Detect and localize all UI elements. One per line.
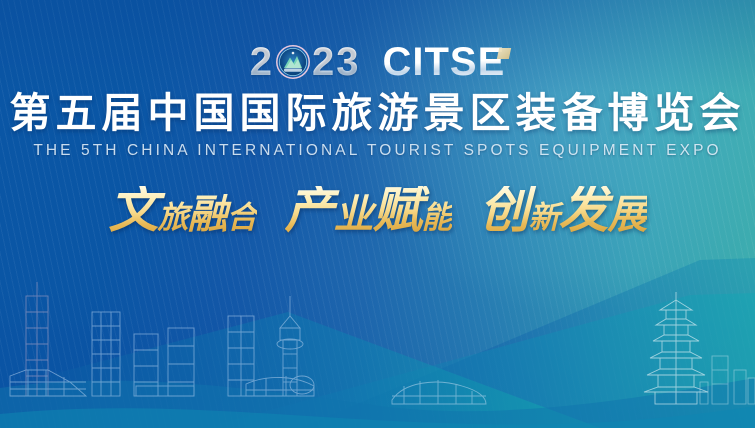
acronym-text: CITSE <box>382 40 505 84</box>
slogan-char: 文 <box>109 186 158 234</box>
year-suffix: 23 <box>312 42 361 82</box>
city-skyline-wireframe <box>0 278 755 428</box>
slogan-char: 产 <box>285 186 334 234</box>
slogan-chuangxin-fazhan: 创 新 发 展 <box>480 186 647 234</box>
chinese-title: 第五届中国国际旅游景区装备博览会 <box>0 92 755 135</box>
pagoda-tower <box>644 292 708 404</box>
english-title: THE 5TH CHINA INTERNATIONAL TOURIST SPOT… <box>0 142 755 160</box>
slogan-chanye-funeng: 产 业 赋 能 <box>285 186 452 234</box>
banner-header: 2 <box>0 0 755 160</box>
slogan-char: 融 <box>188 196 227 234</box>
year-prefix: 2 <box>250 42 274 82</box>
slogan-char: 旅 <box>158 204 188 234</box>
year-logo-row: 2 <box>0 38 755 86</box>
acronym-citse: CITSE <box>382 42 505 82</box>
slogan-char: 创 <box>480 186 529 234</box>
slogan-char: 发 <box>559 186 608 234</box>
slogan-char: 展 <box>608 196 647 234</box>
citse-round-emblem <box>276 45 310 79</box>
expo-banner: 2 <box>0 0 755 428</box>
acronym-accent-mark <box>497 48 511 59</box>
slogan-row: 文 旅 融 合 产 业 赋 能 创 新 发 展 <box>0 186 755 234</box>
slogan-wenlv-ronghe: 文 旅 融 合 <box>109 186 257 234</box>
slogan-char: 赋 <box>373 186 422 234</box>
slogan-char: 新 <box>529 204 559 234</box>
slogan-char: 业 <box>334 196 373 234</box>
slogan-char: 合 <box>227 204 257 234</box>
slogan-char: 能 <box>422 204 452 234</box>
